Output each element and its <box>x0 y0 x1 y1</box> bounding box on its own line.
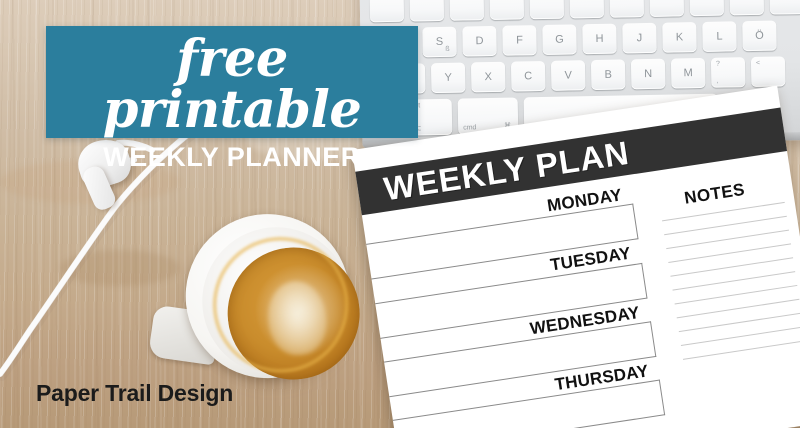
key-s[interactable]: Sß <box>422 27 457 58</box>
planner-days-column: MONDAY TUESDAY WEDNESDAY THURSDAY <box>363 183 670 428</box>
key-blank[interactable] <box>690 0 725 16</box>
key-m[interactable]: M <box>671 58 706 89</box>
keyboard-row-top <box>370 0 800 22</box>
key-blank[interactable] <box>490 0 525 20</box>
key-blank[interactable] <box>370 0 405 22</box>
key-g[interactable]: G <box>542 24 577 55</box>
key-b[interactable]: B <box>591 59 626 90</box>
title-banner: free printable WEEKLY PLANNER <box>46 26 418 138</box>
key-semicolon[interactable]: ?, <box>711 57 746 88</box>
brand-watermark: Paper Trail Design <box>36 380 233 407</box>
key-l[interactable]: L <box>702 21 737 52</box>
keyboard-row-home: A Sß D F G H J K L Ö <box>382 21 777 59</box>
key-n[interactable]: N <box>631 59 666 90</box>
banner-script-text: free printable <box>46 26 418 136</box>
banner-subtitle: WEEKLY PLANNER <box>46 136 418 173</box>
key-v[interactable]: V <box>551 60 586 91</box>
key-blank[interactable] <box>570 0 605 18</box>
key-blank[interactable] <box>450 0 485 21</box>
key-blank[interactable] <box>650 0 685 17</box>
coffee-cup <box>169 199 369 399</box>
key-k[interactable]: K <box>662 22 697 53</box>
key-colon[interactable]: < <box>751 56 786 87</box>
key-c[interactable]: C <box>511 61 546 92</box>
key-h[interactable]: H <box>582 24 617 55</box>
wood-knot <box>60 250 180 286</box>
key-blank[interactable] <box>530 0 565 19</box>
key-d[interactable]: D <box>462 26 497 57</box>
key-blank[interactable] <box>610 0 645 18</box>
key-f[interactable]: F <box>502 25 537 56</box>
note-line <box>683 340 800 360</box>
key-j[interactable]: J <box>622 23 657 54</box>
notes-lines[interactable] <box>662 200 800 359</box>
key-y[interactable]: Y <box>431 63 466 94</box>
key-blank[interactable] <box>729 0 764 15</box>
key-blank[interactable] <box>410 0 445 22</box>
screenshot-stage: A Sß D F G H J K L Ö Y X C V B N M ?, < <box>0 0 800 428</box>
key-s-sublabel: ß <box>445 46 449 53</box>
key-blank[interactable] <box>769 0 800 15</box>
key-oe[interactable]: Ö <box>742 21 777 52</box>
key-x[interactable]: X <box>471 62 506 93</box>
keyboard-row-bottom-letters: Y X C V B N M ?, < <box>395 56 786 93</box>
